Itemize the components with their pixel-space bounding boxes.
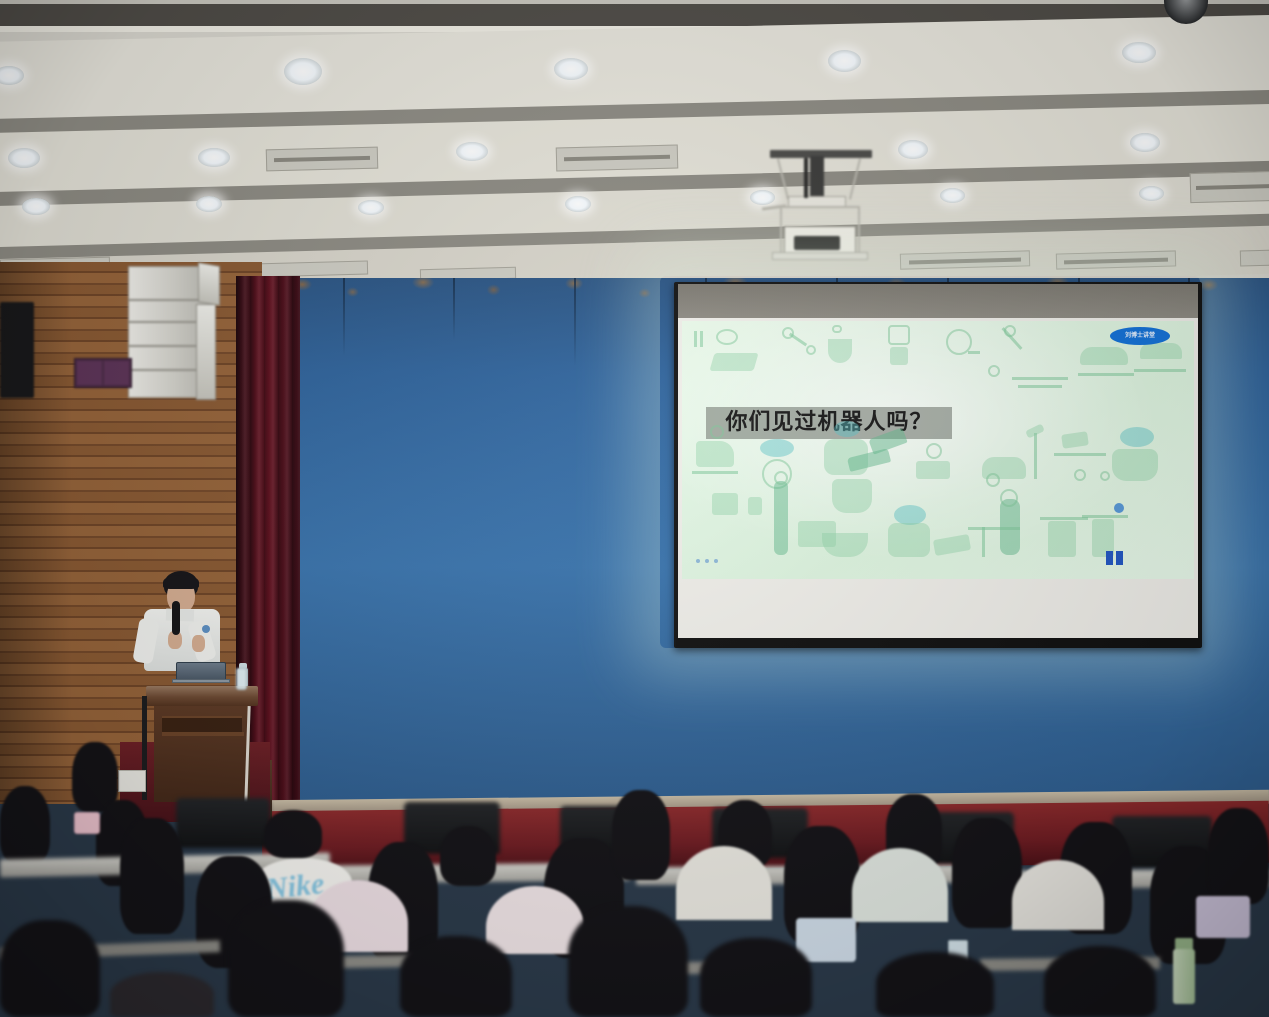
audience-head-front [228,900,344,1017]
hvac-vent [1056,250,1176,269]
thermos-bottle [1172,938,1196,1004]
loudspeaker-secondary [0,302,34,398]
ceiling-downlight [22,198,50,215]
ceiling [0,0,1269,285]
presenter-hand [192,635,205,652]
ceiling-downlight [358,200,384,215]
ceiling-downlight [898,140,928,159]
audience-head [120,818,184,934]
slide-brand-logo: 刘博士讲堂 [1110,327,1170,345]
slide-page-dots [696,559,718,563]
ceiling-downlight [8,148,40,168]
slide-brand-logo-text: 刘博士讲堂 [1125,333,1155,339]
audience-head [612,790,670,880]
slide-title: 你们见过机器人吗？ [706,407,952,439]
microphone [172,601,180,635]
backpack [1196,896,1250,938]
projection-screen: 刘博士讲堂 你们见过机器人吗？ [674,282,1202,648]
audience-head-front [700,938,812,1017]
audience-head-front [876,952,994,1017]
wall-outlet-box [118,770,146,792]
audience-head-front [1044,946,1156,1017]
hvac-vent [556,145,679,172]
slide-corner-badge [1114,503,1124,513]
audience-head [0,786,50,864]
line-array-loudspeaker [128,266,212,398]
screen-top-band [678,284,1198,318]
audience-head-front [110,972,214,1017]
slide-content: 刘博士讲堂 你们见过机器人吗？ [682,321,1194,579]
audience-head [440,826,496,886]
ceiling-downlight [554,58,588,80]
screen-weight-bar [676,638,1200,648]
ceiling-downlight [196,196,222,212]
smartphone [74,812,100,834]
auditorium-seat [176,798,270,848]
ceiling-downlight [456,142,488,161]
ceiling-downlight [565,196,591,212]
ceiling-downlight [1139,186,1164,201]
audience-head [1208,808,1269,904]
hvac-vent [1190,171,1269,203]
ceiling-downlight [828,50,861,72]
audience-head [264,810,322,858]
shirt-logo [202,625,210,633]
hvac-vent [1240,249,1269,266]
hvac-vent [900,250,1030,269]
hvac-vent [266,147,379,172]
slide-figure-accent [1106,551,1123,565]
ceiling-projector [766,150,876,274]
wall-equipment-box [74,358,132,388]
ceiling-downlight [1122,42,1156,63]
audience-head-front [400,936,512,1017]
ceiling-downlight [284,58,322,85]
audience-head-front [0,920,100,1017]
lecture-hall-photo: 刘博士讲堂 你们见过机器人吗？ [0,0,1269,1017]
ceiling-downlight [940,188,965,203]
ceiling-downlight [198,148,230,167]
laptop [174,662,228,684]
audience-head-front [568,906,688,1017]
water-bottle-secondary [236,668,247,690]
ceiling-downlight [1130,133,1160,152]
